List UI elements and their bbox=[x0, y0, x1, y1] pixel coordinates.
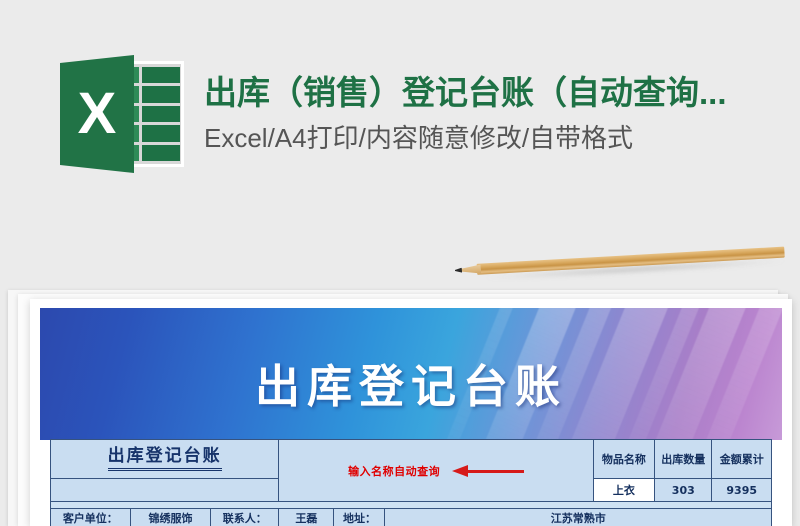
inner-title: 出库登记台账 bbox=[108, 448, 222, 471]
page-root: X 出库（销售）登记台账（自动查询... Excel/A4打印/内容随意修改/自… bbox=[0, 0, 800, 526]
customer-address-label: 地址： bbox=[334, 509, 385, 526]
summary-header-amount-total: 金额累计 bbox=[712, 440, 772, 479]
customer-contact-label: 联系人： bbox=[211, 509, 279, 526]
left-arrow-icon bbox=[452, 465, 524, 477]
customer-unit-value[interactable]: 锦绣服饰 bbox=[130, 509, 211, 526]
sheet-banner-title: 出库登记台账 bbox=[255, 350, 567, 415]
ledger-table: 出库登记台账 输入名称自动查询 物品名称 出库数量 金额累计 bbox=[50, 439, 772, 526]
top-banner: X 出库（销售）登记台账（自动查询... Excel/A4打印/内容随意修改/自… bbox=[0, 0, 800, 250]
page-title: 出库（销售）登记台账（自动查询... bbox=[204, 72, 727, 113]
customer-unit-label: 客户单位： bbox=[51, 509, 131, 526]
customer-contact-value[interactable]: 王磊 bbox=[279, 509, 334, 526]
inner-title-underline-cell bbox=[51, 479, 279, 502]
auto-query-hint-cell: 输入名称自动查询 bbox=[279, 440, 593, 502]
ledger-header-row: 出库登记台账 输入名称自动查询 物品名称 出库数量 金额累计 bbox=[51, 440, 772, 479]
page-subtitle: Excel/A4打印/内容随意修改/自带格式 bbox=[204, 121, 727, 156]
sheet-banner: 出库登记台账 bbox=[40, 308, 782, 440]
summary-value-out-qty: 303 bbox=[655, 479, 712, 502]
spacer-row-1 bbox=[51, 502, 772, 509]
excel-icon: X bbox=[60, 55, 188, 173]
auto-query-hint: 输入名称自动查询 bbox=[348, 466, 440, 477]
summary-value-amount-total: 9395 bbox=[712, 479, 772, 502]
card-main: 出库登记台账 出库登记台账 bbox=[30, 299, 792, 526]
summary-header-item-name: 物品名称 bbox=[593, 440, 655, 479]
brand-text: 出库（销售）登记台账（自动查询... Excel/A4打印/内容随意修改/自带格… bbox=[204, 72, 727, 156]
summary-value-item-name[interactable]: 上衣 bbox=[593, 479, 655, 502]
excel-icon-letter: X bbox=[60, 55, 134, 173]
inner-title-cell: 出库登记台账 bbox=[51, 440, 279, 479]
customer-address-value[interactable]: 江苏常熟市 bbox=[385, 509, 772, 526]
customer-row: 客户单位： 锦绣服饰 联系人： 王磊 地址： 江苏常熟市 bbox=[51, 509, 772, 526]
brand-row: X 出库（销售）登记台账（自动查询... Excel/A4打印/内容随意修改/自… bbox=[60, 55, 727, 173]
summary-header-out-qty: 出库数量 bbox=[655, 440, 712, 479]
spreadsheet-preview: 出库登记台账 出库登记台账 bbox=[40, 308, 782, 526]
